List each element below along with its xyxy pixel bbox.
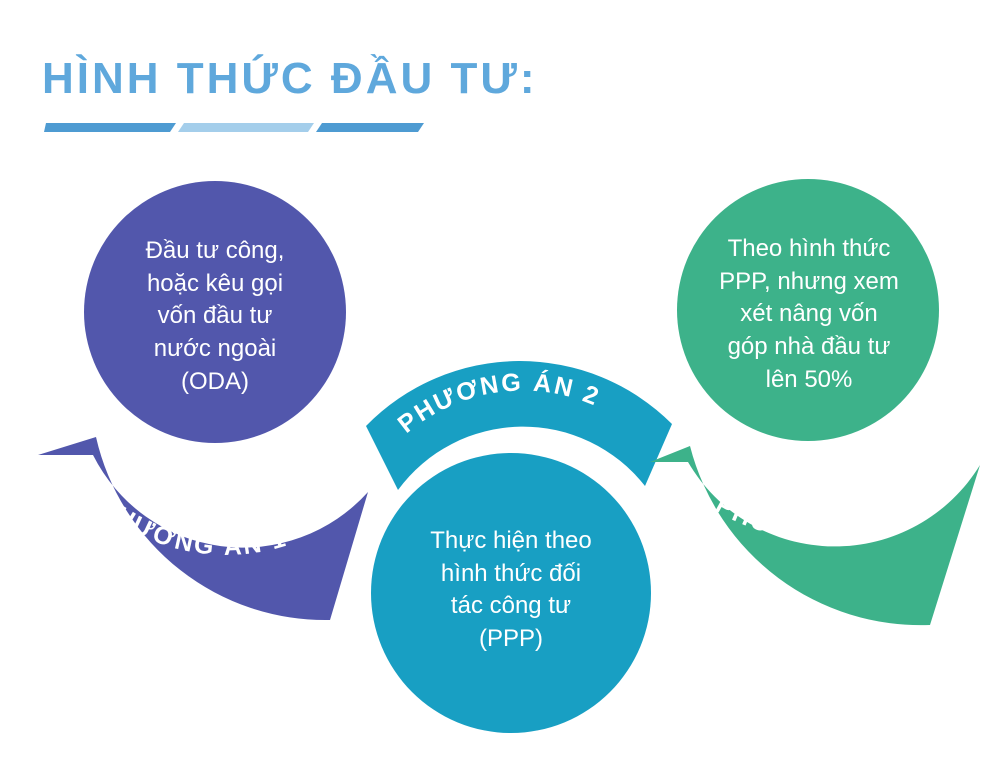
banner-1-label-text: PHƯƠNG ÁN 1 — [94, 491, 290, 561]
circle-option-1[interactable] — [84, 181, 346, 443]
circle-option-3[interactable] — [677, 179, 939, 441]
banner-option-3[interactable]: PHƯƠNG ÁN 3 — [650, 446, 980, 625]
banner-1-label: PHƯƠNG ÁN 1 — [94, 491, 290, 561]
infographic-root: HÌNH THỨC ĐẦU TƯ: PHƯƠNG ÁN 1 PHƯƠNG ÁN … — [0, 0, 1000, 760]
banner-option-1[interactable]: PHƯƠNG ÁN 1 — [38, 437, 368, 620]
circle-option-2[interactable] — [371, 453, 651, 733]
wave-diagram: PHƯƠNG ÁN 1 PHƯƠNG ÁN 2 PHƯƠNG ÁN 3 — [0, 0, 1000, 760]
banner-1-shape — [38, 437, 368, 620]
